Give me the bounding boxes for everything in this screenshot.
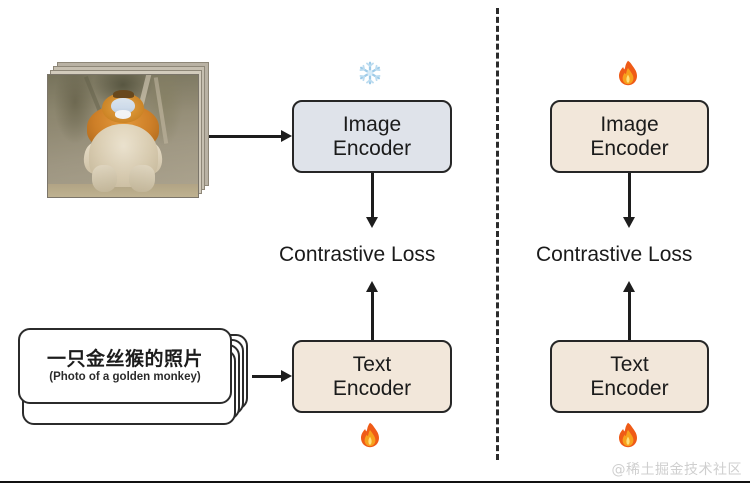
arrow-image-encoder-to-loss-left — [371, 173, 374, 219]
monkey-photo — [47, 74, 199, 198]
fire-icon — [355, 420, 385, 450]
image-encoder-box-left[interactable]: Image Encoder — [292, 100, 452, 173]
text-encoder-label-line2: Encoder — [590, 377, 668, 401]
image-encoder-label-line1: Image — [600, 113, 658, 137]
snowflake-icon — [355, 58, 385, 88]
text-encoder-box-right[interactable]: Text Encoder — [550, 340, 709, 413]
arrow-image-encoder-to-loss-right-head — [623, 217, 635, 228]
text-encoder-box-left[interactable]: Text Encoder — [292, 340, 452, 413]
text-encoder-label-line1: Text — [610, 353, 649, 377]
panel-divider — [496, 8, 499, 460]
text-input-stack: 一只金丝猴的照片 (Photo of a golden monkey) — [18, 328, 252, 428]
arrow-text-encoder-to-loss-right — [628, 290, 631, 340]
contrastive-loss-label-right: Contrastive Loss — [536, 243, 692, 267]
text-encoder-label-line2: Encoder — [333, 377, 411, 401]
text-prompt-chinese: 一只金丝猴的照片 — [47, 349, 203, 370]
arrow-text-encoder-to-loss-left-head — [366, 281, 378, 292]
text-prompt-card: 一只金丝猴的照片 (Photo of a golden monkey) — [18, 328, 232, 404]
watermark: @稀土掘金技术社区 — [612, 459, 743, 479]
text-encoder-label-line1: Text — [353, 353, 392, 377]
arrow-image-encoder-to-loss-left-head — [366, 217, 378, 228]
figure-canvas: Image Encoder Contrastive Loss 一只金丝猴的照片 … — [0, 0, 750, 483]
contrastive-loss-label-left: Contrastive Loss — [279, 243, 435, 267]
image-encoder-label-line2: Encoder — [590, 137, 668, 161]
photo-vignette — [48, 75, 198, 197]
arrow-text-encoder-to-loss-left — [371, 290, 374, 340]
arrow-image-to-image-encoder — [209, 135, 283, 138]
fire-icon — [613, 58, 643, 88]
image-encoder-label-line1: Image — [343, 113, 401, 137]
image-encoder-label-line2: Encoder — [333, 137, 411, 161]
arrow-text-to-text-encoder — [252, 375, 283, 378]
arrow-text-to-text-encoder-head — [281, 370, 292, 382]
arrow-image-encoder-to-loss-right — [628, 173, 631, 219]
arrow-text-encoder-to-loss-right-head — [623, 281, 635, 292]
text-prompt-english: (Photo of a golden monkey) — [49, 371, 200, 384]
image-input-stack — [47, 62, 209, 198]
image-encoder-box-right[interactable]: Image Encoder — [550, 100, 709, 173]
fire-icon — [613, 420, 643, 450]
arrow-image-to-image-encoder-head — [281, 130, 292, 142]
